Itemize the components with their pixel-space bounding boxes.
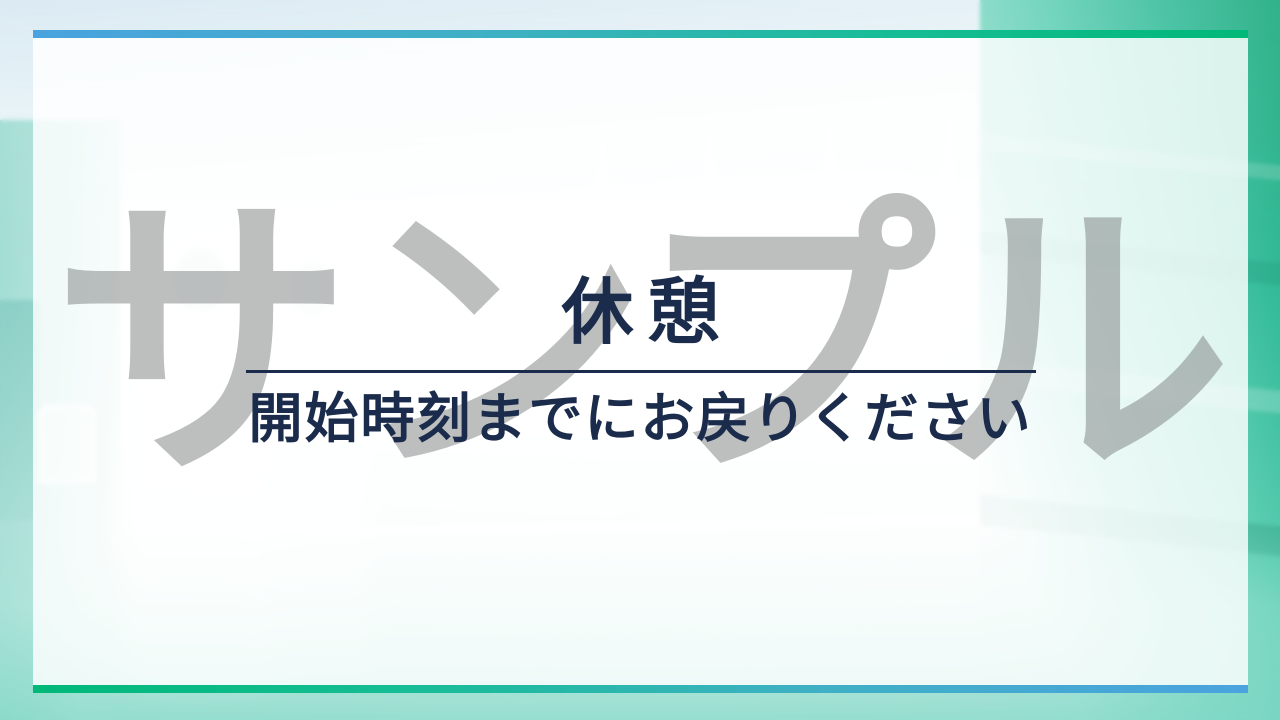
- signage-slide: サンプル 休憩 開始時刻までにお戻りください: [0, 0, 1280, 720]
- slide-subtitle: 開始時刻までにお戻りください: [249, 389, 1033, 448]
- slide-content: 休憩 開始時刻までにお戻りください: [33, 30, 1248, 693]
- title-divider: [246, 370, 1036, 373]
- slide-title: 休憩: [547, 274, 733, 352]
